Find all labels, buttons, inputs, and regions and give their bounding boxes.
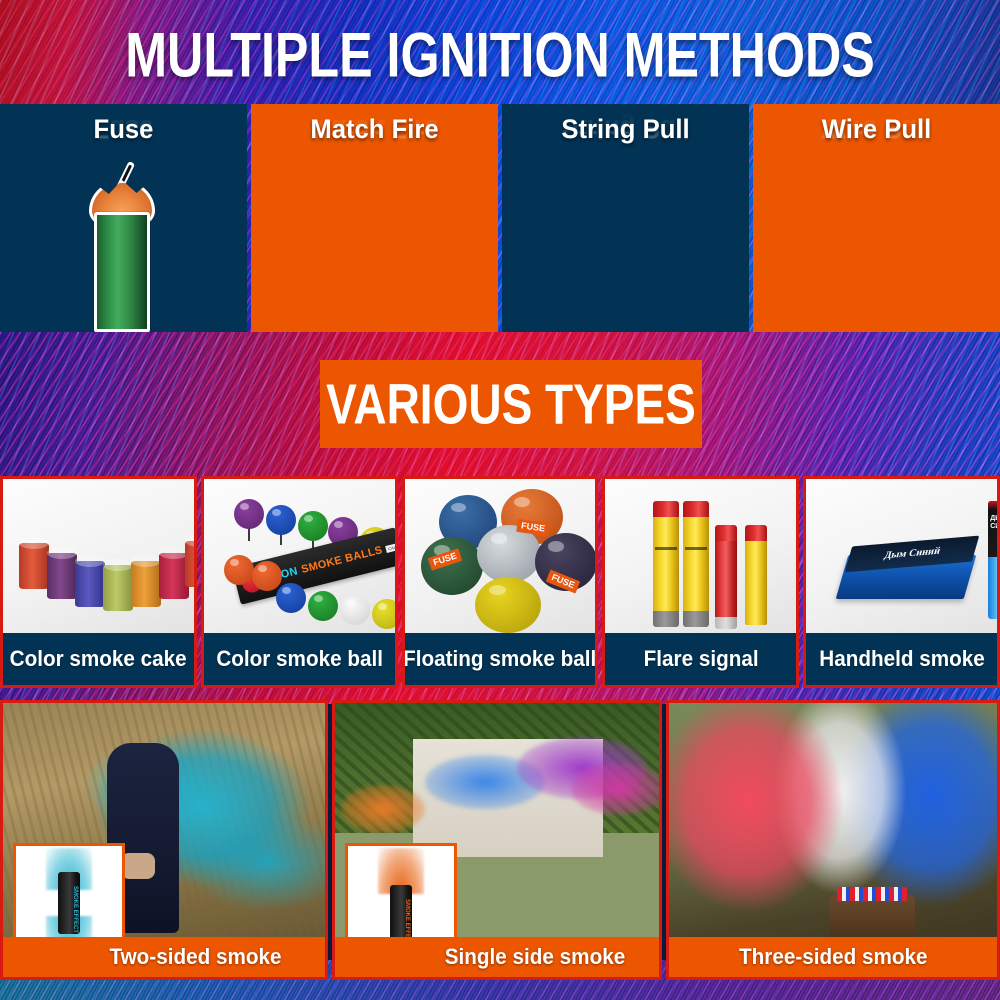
flare-cap xyxy=(715,525,737,541)
type-card-flare-signal[interactable]: Flare signal xyxy=(602,476,799,688)
smoke-ball-item xyxy=(298,511,328,541)
application-label-text: Three-sided smoke xyxy=(739,945,927,969)
application-card-two-sided-smoke[interactable]: SMOKE EFFECT Two-sided smoke xyxy=(0,700,328,980)
handheld-tube-label: ДЫМ СИНИЙ xyxy=(990,515,997,531)
smoke-ball-item xyxy=(308,591,338,621)
package-caution-text: CAUTION xyxy=(385,542,394,552)
hand-figure xyxy=(121,853,155,879)
page-title: MULTIPLE IGNITION METHODS xyxy=(35,22,965,89)
flare-base xyxy=(653,611,679,627)
ignition-panel-match-fire[interactable]: Match Fire Match Fire Fire xyxy=(251,104,498,332)
ignition-panel-fuse[interactable]: Fuse Fuse xyxy=(0,104,247,332)
flare-cap xyxy=(653,501,679,517)
flare-cap xyxy=(683,501,709,517)
flare-item xyxy=(745,537,767,625)
canister-label-text: SMOKE EFFECT xyxy=(60,886,78,933)
ignition-panel-wire-pull[interactable]: Wire Pull Wire Pull xyxy=(753,104,1000,332)
flare-item xyxy=(683,513,709,621)
application-label-bar: Two-sided smoke xyxy=(3,937,325,977)
smoke-device xyxy=(837,887,907,901)
type-photo: NEON SMOKE BALLS CAUTION xyxy=(204,479,395,633)
type-photo xyxy=(3,479,194,633)
type-label-text: Flare signal xyxy=(643,647,758,671)
type-label-text: Handheld smoke xyxy=(819,647,984,671)
product-types-row: Color smoke cake NEON SMOKE BALLS CAUTIO… xyxy=(0,476,1000,688)
smoke-ball-item xyxy=(266,505,296,535)
various-types-banner: VARIOUS TYPES xyxy=(320,360,702,448)
type-label-bar: Flare signal xyxy=(605,633,796,685)
ignition-panel-string-pull[interactable]: String Pull String Pull xyxy=(502,104,749,332)
smoke-ball-item xyxy=(276,583,306,613)
type-card-floating-smoke-ball[interactable]: FUSE FUSE FUSE Floating smoke ball xyxy=(402,476,599,688)
ignition-title: Fuse xyxy=(6,114,241,144)
application-label-text: Two-sided smoke xyxy=(110,945,282,969)
flare-item xyxy=(653,513,679,621)
application-photos-row: SMOKE EFFECT Two-sided smoke SMOKE EFFEC… xyxy=(0,700,1000,980)
smoke-plume-orange xyxy=(341,785,425,833)
smoke-cake-item xyxy=(75,561,105,607)
photo-tricolor-scene xyxy=(669,703,997,977)
various-types-title: VARIOUS TYPES xyxy=(326,374,696,433)
type-card-color-smoke-cake[interactable]: Color smoke cake xyxy=(0,476,197,688)
type-photo: Дым Синий ДЫМ СИНИЙ xyxy=(806,479,997,633)
application-card-single-side-smoke[interactable]: SMOKE EFFECT Single side smoke xyxy=(332,700,662,980)
flare-item xyxy=(715,537,737,625)
type-card-color-smoke-ball[interactable]: NEON SMOKE BALLS CAUTION Color smoke bal… xyxy=(201,476,398,688)
application-label-bar: Single side smoke xyxy=(335,937,659,977)
type-label-bar: Handheld smoke xyxy=(806,633,997,685)
smoke-ball-item xyxy=(340,595,370,625)
smoke-ball-item xyxy=(224,555,254,585)
green-tube-illustration xyxy=(94,212,150,332)
smoke-cake-item xyxy=(103,565,133,611)
type-label-bar: Color smoke ball xyxy=(204,633,395,685)
smoke-canister-product: SMOKE EFFECT xyxy=(58,872,80,934)
various-types-band: VARIOUS TYPES xyxy=(0,332,1000,476)
application-label-bar: Three-sided smoke xyxy=(669,937,997,977)
type-card-handheld-smoke[interactable]: Дым Синий ДЫМ СИНИЙ Handheld smoke xyxy=(803,476,1000,688)
floating-ball-item xyxy=(475,577,541,633)
type-label-text: Color smoke cake xyxy=(10,647,187,671)
ignition-title: String Pull xyxy=(508,114,743,144)
flare-base xyxy=(683,611,709,627)
flare-cap xyxy=(745,525,767,541)
ignition-title: Wire Pull xyxy=(759,114,994,144)
flare-stripe xyxy=(655,547,677,550)
smoke-cake-item xyxy=(131,561,161,607)
type-label-text: Color smoke ball xyxy=(216,647,383,671)
type-photo: FUSE FUSE FUSE xyxy=(405,479,596,633)
flare-base xyxy=(715,617,737,629)
smoke-cake-item xyxy=(185,541,194,587)
type-photo xyxy=(605,479,796,633)
application-label-text: Single side smoke xyxy=(445,945,625,969)
smoke-ball-item xyxy=(234,499,264,529)
handheld-box-text: Дым Синий xyxy=(883,547,942,562)
application-photo xyxy=(669,703,997,977)
header-band: MULTIPLE IGNITION METHODS xyxy=(0,0,1000,104)
type-label-bar: Color smoke cake xyxy=(3,633,194,685)
ignition-methods-row: Fuse Fuse Match Fire Match Fire Fire Str… xyxy=(0,104,1000,332)
smoke-cake-item xyxy=(19,543,49,589)
smoke-cake-item xyxy=(47,553,77,599)
type-label-bar: Floating smoke ball xyxy=(405,633,596,685)
smoke-plume-magenta xyxy=(571,763,659,815)
application-card-three-sided-smoke[interactable]: Three-sided smoke xyxy=(666,700,1000,980)
smoke-ball-item xyxy=(252,561,282,591)
flare-stripe xyxy=(685,547,707,550)
package-name-text: SMOKE BALLS xyxy=(300,544,384,576)
smoke-ball-item xyxy=(372,599,395,629)
type-label-text: Floating smoke ball xyxy=(403,647,596,671)
ignition-title: Match Fire xyxy=(257,114,492,144)
